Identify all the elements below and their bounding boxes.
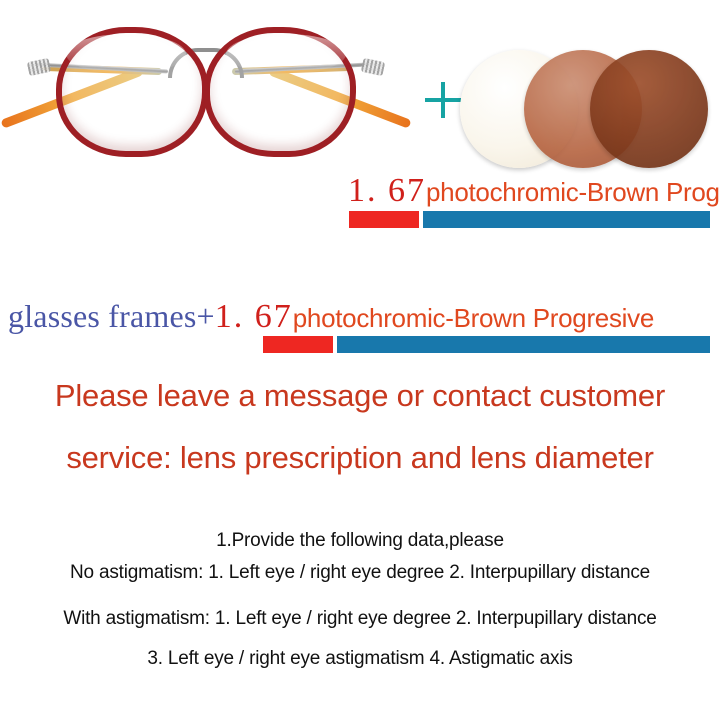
lens-index-value: 1. 67 <box>348 174 426 208</box>
underline-bar-blue <box>423 211 710 228</box>
underline-bar-red <box>349 211 419 228</box>
customer-message-line-1: Please leave a message or contact custom… <box>0 378 720 414</box>
frames-label-text: glasses frames+ <box>8 300 215 332</box>
instruction-line-2: No astigmatism: 1. Left eye / right eye … <box>0 562 720 584</box>
lens-glare-right-icon <box>226 34 346 74</box>
instruction-line-4: 3. Left eye / right eye astigmatism 4. A… <box>0 648 720 670</box>
dark-brown-lens-disc-icon <box>590 50 708 168</box>
title-underline-bar-blue <box>337 336 710 353</box>
title-underline-bars <box>263 336 710 353</box>
lens-label: 1. 67 photochromic-Brown Progresive <box>348 174 720 208</box>
lens-label-underline-bars <box>349 211 710 228</box>
product-image-canvas: 1. 67 photochromic-Brown Progresive glas… <box>0 0 720 720</box>
title-underline-bar-red <box>263 336 333 353</box>
plus-icon <box>425 82 461 118</box>
instruction-line-3: With astigmatism: 1. Left eye / right ey… <box>0 608 720 630</box>
hinge-right-icon <box>361 58 385 76</box>
lens-description-text: photochromic-Brown Progresive <box>426 179 720 205</box>
title-description-text: photochromic-Brown Progresive <box>293 305 654 331</box>
product-title-row: glasses frames+ 1. 67 photochromic-Brown… <box>8 300 654 334</box>
lens-disc-group <box>460 50 710 175</box>
instruction-line-1: 1.Provide the following data,please <box>0 530 720 552</box>
lens-glare-left-icon <box>66 34 186 74</box>
glasses-frame-illustration <box>0 0 412 185</box>
hinge-left-icon <box>27 58 51 76</box>
title-index-value: 1. 67 <box>215 300 293 334</box>
glasses-frame-photo <box>0 0 412 185</box>
customer-message-line-2: service: lens prescription and lens diam… <box>0 440 720 476</box>
